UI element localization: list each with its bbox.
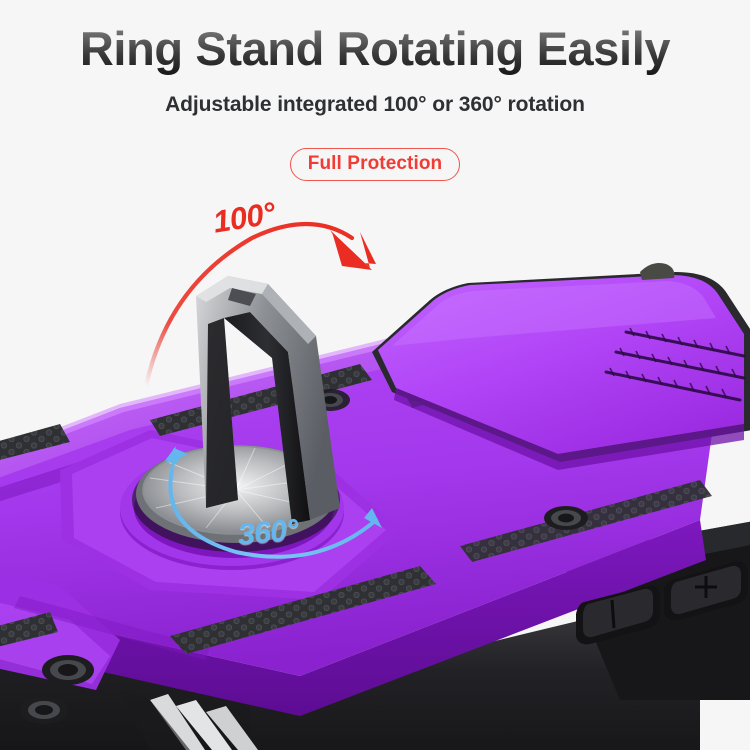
volume-down-mark: [612, 600, 614, 628]
product-marketing-image: Ring Stand Rotating Easily Adjustable in…: [0, 0, 750, 750]
product-illustration: [0, 0, 750, 750]
rotation-angle-label: 360°: [237, 513, 300, 552]
